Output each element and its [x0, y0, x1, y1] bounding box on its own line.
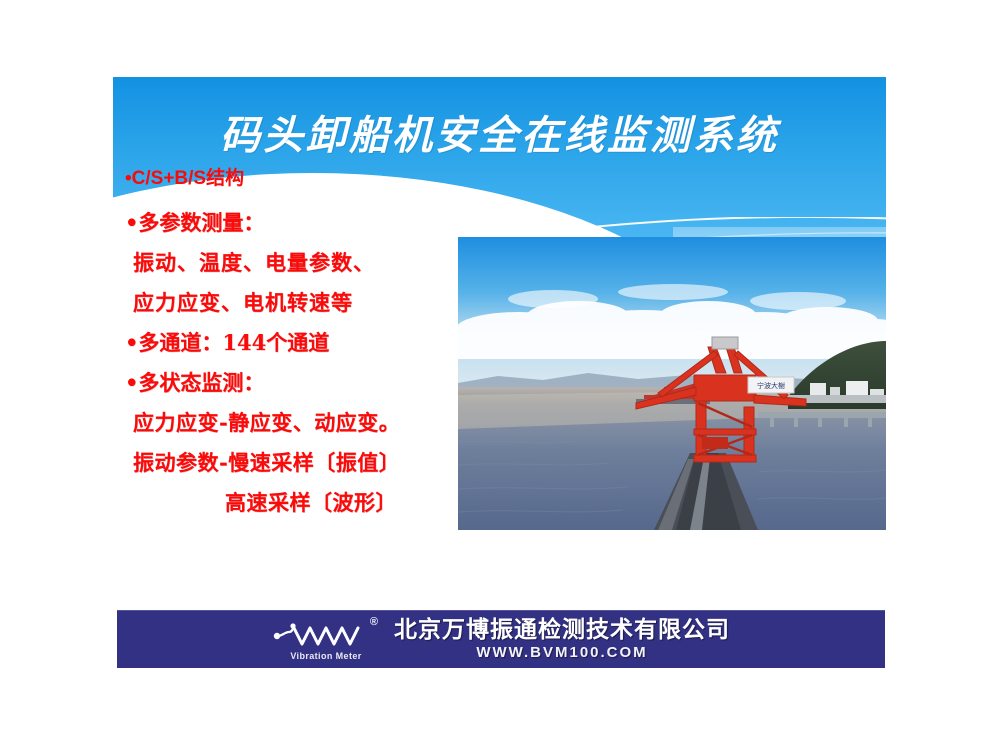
- registered-mark: ®: [370, 616, 378, 628]
- harbour-crane-photo: 宁波大榭: [458, 237, 886, 530]
- company-block: 北京万博振通检测技术有限公司 WWW.BVM100.COM: [394, 618, 730, 660]
- bullet-item-8: 振动参数-慢速采样〔振值〕: [133, 452, 400, 473]
- waveform-logo-icon: [272, 616, 380, 652]
- bullet-item-9: 高速采样〔波形〕: [225, 492, 397, 513]
- company-name: 北京万博振通检测技术有限公司: [394, 618, 730, 641]
- bullet-item-5: •多通道：144个通道: [125, 332, 329, 353]
- bullet-item-7: 应力应变-静应变、动应变。: [133, 412, 400, 433]
- bullet-item-4: 应力应变、电机转速等: [133, 292, 353, 313]
- bullet-item-3: 振动、温度、电量参数、: [133, 252, 375, 273]
- bullet-item-6: •多状态监测：: [125, 372, 264, 393]
- slide-page: 码头卸船机安全在线监测系统 •C/S+B/S结构 •多参数测量： 振动、温度、电…: [0, 0, 1000, 750]
- photo-illustration: 宁波大榭: [458, 237, 886, 530]
- bullet-item-2: •多参数测量：: [125, 212, 264, 233]
- svg-text:宁波大榭: 宁波大榭: [757, 381, 785, 390]
- presentation-slide: 码头卸船机安全在线监测系统 •C/S+B/S结构 •多参数测量： 振动、温度、电…: [113, 77, 886, 669]
- footer-bar: ® Vibration Meter 北京万博振通检测技术有限公司 WWW.BVM…: [117, 610, 885, 668]
- vibration-meter-logo: ® Vibration Meter: [272, 616, 380, 662]
- slide-title: 码头卸船机安全在线监测系统: [113, 103, 886, 161]
- company-url: WWW.BVM100.COM: [476, 645, 647, 660]
- logo-label: Vibration Meter: [276, 651, 376, 661]
- bullet-item-1: •C/S+B/S结构: [125, 169, 244, 188]
